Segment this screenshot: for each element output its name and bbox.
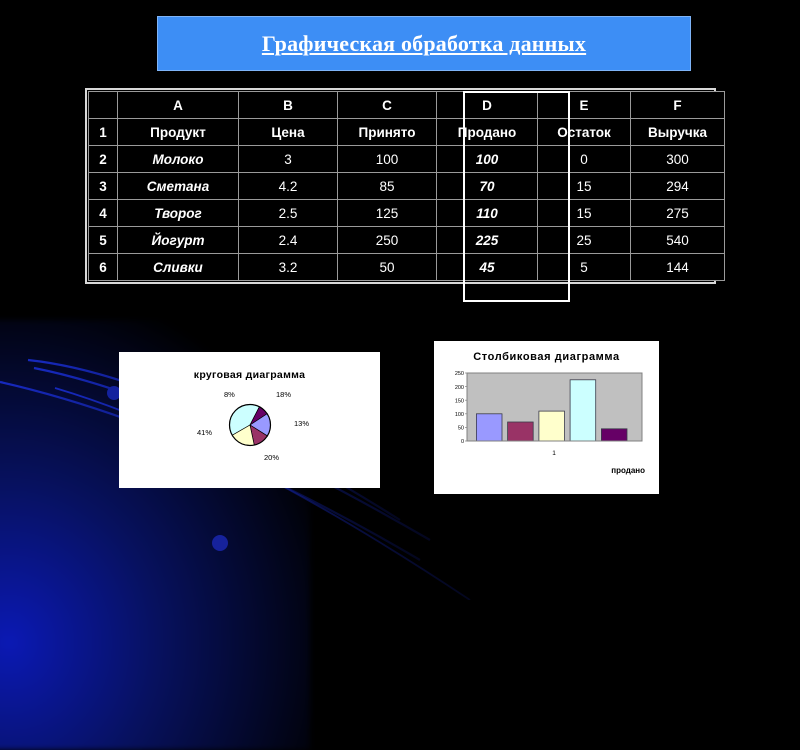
page-title: Графическая обработка данных	[262, 31, 586, 57]
cell-F6[interactable]: 144	[631, 254, 724, 280]
row-header-3[interactable]: 3	[89, 173, 117, 199]
row-header-6[interactable]: 6	[89, 254, 117, 280]
row-header-2[interactable]: 2	[89, 146, 117, 172]
svg-text:1: 1	[552, 450, 556, 457]
y-tick-100: 100	[455, 412, 464, 418]
bar-chart-legend-label: продано	[611, 466, 645, 475]
cell-A6[interactable]: Сливки	[118, 254, 238, 280]
pie-label-3: 41%	[197, 428, 212, 437]
y-tick-0: 0	[461, 439, 464, 445]
cell-D4[interactable]: 110	[437, 200, 537, 226]
cell-B2[interactable]: 3	[239, 146, 337, 172]
header-cell-A[interactable]: Продукт	[118, 119, 238, 145]
cell-C2[interactable]: 100	[338, 146, 436, 172]
sheet-corner-cell[interactable]	[89, 92, 117, 118]
cell-A3[interactable]: Сметана	[118, 173, 238, 199]
cell-C4[interactable]: 125	[338, 200, 436, 226]
cell-B6[interactable]: 3.2	[239, 254, 337, 280]
bar-Творог	[539, 411, 565, 441]
pie-chart-plot: 18% 13% 20% 41% 8%	[119, 381, 380, 473]
column-header-D[interactable]: D	[437, 92, 537, 118]
column-header-row: ABCDEF	[89, 92, 724, 118]
pie-label-4: 8%	[224, 390, 235, 399]
bar-chart-panel[interactable]: Столбиковая диаграмма 050100150200250 1 …	[434, 341, 659, 494]
cell-E4[interactable]: 15	[538, 200, 630, 226]
bar-Сметана	[508, 422, 534, 441]
header-cell-D[interactable]: Продано	[437, 119, 537, 145]
cell-F3[interactable]: 294	[631, 173, 724, 199]
y-tick-200: 200	[455, 385, 464, 391]
row-header-1[interactable]: 1	[89, 119, 117, 145]
cell-C6[interactable]: 50	[338, 254, 436, 280]
table-row: 2Молоко31001000300	[89, 146, 724, 172]
slide-title-banner: Графическая обработка данных	[157, 16, 691, 71]
bar-chart-plot: 050100150200250 1 продано	[434, 363, 659, 481]
cell-D2[interactable]: 100	[437, 146, 537, 172]
pie-chart-panel[interactable]: круговая диаграмма 18% 13% 20% 41% 8%	[119, 352, 380, 488]
header-cell-E[interactable]: Остаток	[538, 119, 630, 145]
y-tick-50: 50	[458, 426, 464, 432]
cell-F2[interactable]: 300	[631, 146, 724, 172]
row-header-5[interactable]: 5	[89, 227, 117, 253]
column-header-C[interactable]: C	[338, 92, 436, 118]
cell-E3[interactable]: 15	[538, 173, 630, 199]
cell-B5[interactable]: 2.4	[239, 227, 337, 253]
cell-B4[interactable]: 2.5	[239, 200, 337, 226]
pie-chart-svg	[224, 399, 276, 451]
cell-A2[interactable]: Молоко	[118, 146, 238, 172]
y-tick-150: 150	[455, 398, 464, 404]
cell-B3[interactable]: 4.2	[239, 173, 337, 199]
spreadsheet-table: ABCDEF1ПродуктЦенаПринятоПроданоОстатокВ…	[85, 88, 716, 284]
cell-F4[interactable]: 275	[631, 200, 724, 226]
column-header-B[interactable]: B	[239, 92, 337, 118]
cell-A5[interactable]: Йогурт	[118, 227, 238, 253]
table-row: 6Сливки3.250455144	[89, 254, 724, 280]
y-tick-250: 250	[455, 371, 464, 377]
header-cell-C[interactable]: Принято	[338, 119, 436, 145]
pie-label-2: 20%	[264, 453, 279, 462]
table-row: 4Творог2.512511015275	[89, 200, 724, 226]
cell-D6[interactable]: 45	[437, 254, 537, 280]
table-row: 5Йогурт2.425022525540	[89, 227, 724, 253]
table-row: 3Сметана4.2857015294	[89, 173, 724, 199]
cell-C5[interactable]: 250	[338, 227, 436, 253]
bar-Молоко	[476, 414, 502, 441]
header-cell-F[interactable]: Выручка	[631, 119, 724, 145]
cell-D3[interactable]: 70	[437, 173, 537, 199]
pie-chart-title: круговая диаграмма	[119, 369, 380, 381]
cell-E2[interactable]: 0	[538, 146, 630, 172]
cell-F5[interactable]: 540	[631, 227, 724, 253]
bar-chart-title: Столбиковая диаграмма	[434, 351, 659, 363]
pie-label-1: 13%	[294, 419, 309, 428]
column-header-E[interactable]: E	[538, 92, 630, 118]
header-cell-B[interactable]: Цена	[239, 119, 337, 145]
bar-Сливки	[601, 429, 627, 441]
cell-E5[interactable]: 25	[538, 227, 630, 253]
cell-A4[interactable]: Творог	[118, 200, 238, 226]
table-row: 1ПродуктЦенаПринятоПроданоОстатокВыручка	[89, 119, 724, 145]
column-header-A[interactable]: A	[118, 92, 238, 118]
pie-label-0: 18%	[276, 390, 291, 399]
bar-Йогурт	[570, 380, 596, 441]
cell-C3[interactable]: 85	[338, 173, 436, 199]
cell-E6[interactable]: 5	[538, 254, 630, 280]
bar-chart-svg: 050100150200250 1	[434, 367, 659, 479]
cell-D5[interactable]: 225	[437, 227, 537, 253]
column-header-F[interactable]: F	[631, 92, 724, 118]
row-header-4[interactable]: 4	[89, 200, 117, 226]
